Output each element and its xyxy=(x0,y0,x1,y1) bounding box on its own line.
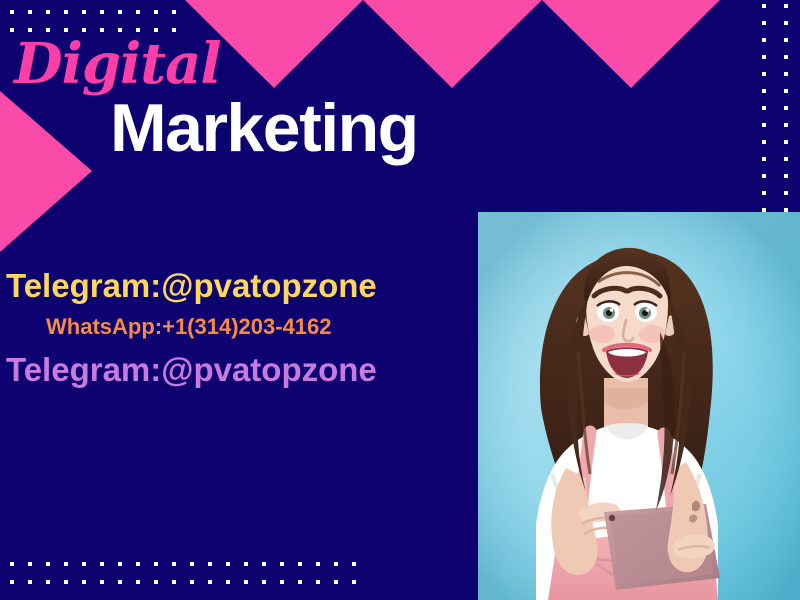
dot xyxy=(784,21,788,25)
dot xyxy=(784,106,788,110)
headline-block-word: Marketing xyxy=(110,94,418,162)
dot xyxy=(762,191,766,195)
dot xyxy=(154,10,158,14)
dot xyxy=(784,174,788,178)
dot xyxy=(208,580,212,584)
telegram-handle-secondary[interactable]: Telegram:@pvatopzone xyxy=(0,352,478,389)
dot xyxy=(762,174,766,178)
dot xyxy=(10,10,14,14)
dot xyxy=(172,562,176,566)
dot xyxy=(136,10,140,14)
dot-grid-bottom-left xyxy=(10,562,390,600)
dot xyxy=(208,562,212,566)
dot xyxy=(82,580,86,584)
photo-panel: Excited young woman with long wavy brown… xyxy=(478,212,800,600)
dot xyxy=(762,38,766,42)
dot xyxy=(762,21,766,25)
dot xyxy=(118,10,122,14)
dot xyxy=(762,4,766,8)
dot xyxy=(10,580,14,584)
dot xyxy=(784,4,788,8)
dot xyxy=(64,562,68,566)
dot xyxy=(762,140,766,144)
promo-banner: Digital Marketing Telegram:@pvatopzone W… xyxy=(0,0,800,600)
dot xyxy=(762,123,766,127)
headline-script-word: Digital xyxy=(14,36,221,92)
dot xyxy=(298,580,302,584)
dot xyxy=(762,106,766,110)
contact-block: Telegram:@pvatopzone WhatsApp:+1(314)203… xyxy=(0,268,478,389)
dot xyxy=(762,72,766,76)
dot xyxy=(280,562,284,566)
dot xyxy=(82,10,86,14)
dot xyxy=(154,562,158,566)
dot xyxy=(28,562,32,566)
dot xyxy=(118,562,122,566)
person-photo xyxy=(478,212,800,600)
dot xyxy=(172,10,176,14)
dot xyxy=(784,38,788,42)
dot xyxy=(46,562,50,566)
dot xyxy=(762,157,766,161)
dot xyxy=(784,72,788,76)
dot xyxy=(10,562,14,566)
dot xyxy=(784,191,788,195)
dot xyxy=(154,580,158,584)
dot xyxy=(784,157,788,161)
dot xyxy=(46,10,50,14)
headline-block: Digital Marketing xyxy=(0,36,470,176)
dot xyxy=(28,580,32,584)
dot xyxy=(244,580,248,584)
dot xyxy=(262,562,266,566)
dot xyxy=(784,140,788,144)
dot xyxy=(316,562,320,566)
dot xyxy=(784,123,788,127)
dot xyxy=(136,580,140,584)
dot xyxy=(100,10,104,14)
dot-grid-right-column xyxy=(762,4,800,216)
dot xyxy=(100,580,104,584)
dot xyxy=(298,562,302,566)
dot xyxy=(28,10,32,14)
dot xyxy=(136,562,140,566)
dot xyxy=(64,580,68,584)
dot xyxy=(784,55,788,59)
dot xyxy=(334,562,338,566)
dot xyxy=(762,89,766,93)
dot xyxy=(352,562,356,566)
dot xyxy=(190,562,194,566)
dot xyxy=(244,562,248,566)
dot xyxy=(226,580,230,584)
dot xyxy=(784,89,788,93)
dot xyxy=(172,580,176,584)
dot xyxy=(334,580,338,584)
dot xyxy=(762,55,766,59)
dot xyxy=(316,580,320,584)
dot xyxy=(280,580,284,584)
dot xyxy=(190,580,194,584)
dot xyxy=(100,562,104,566)
dot xyxy=(118,580,122,584)
dot xyxy=(82,562,86,566)
whatsapp-number[interactable]: WhatsApp:+1(314)203-4162 xyxy=(0,315,478,340)
telegram-handle-primary[interactable]: Telegram:@pvatopzone xyxy=(0,268,478,305)
dot xyxy=(46,580,50,584)
dot xyxy=(352,580,356,584)
dot xyxy=(226,562,230,566)
dot xyxy=(262,580,266,584)
dot xyxy=(64,10,68,14)
